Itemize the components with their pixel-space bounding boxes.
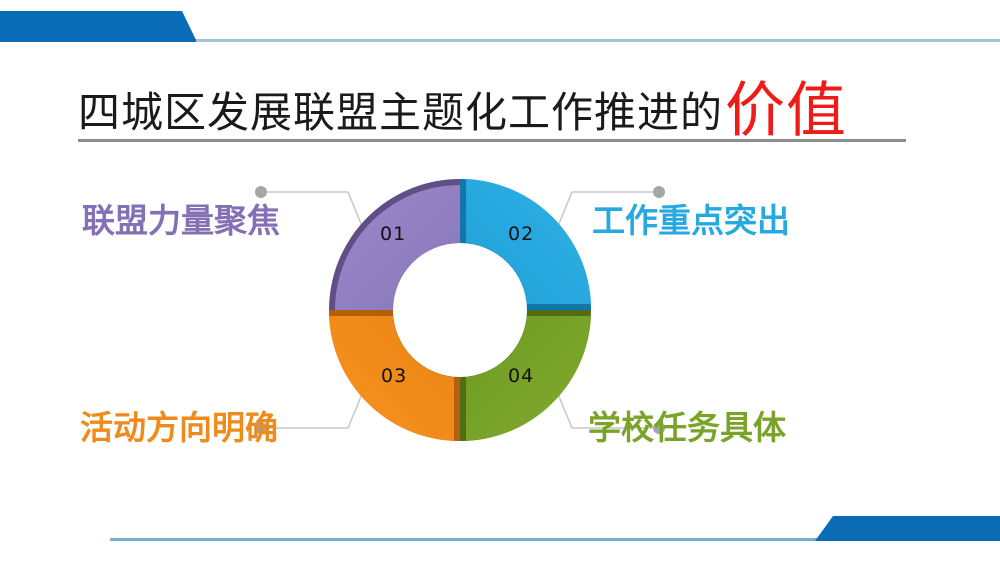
top-accent-line (0, 39, 1000, 42)
title-underline (78, 139, 906, 142)
top-blue-banner (0, 11, 196, 40)
page-title-accent: 价值 (725, 81, 847, 141)
top-decoration (0, 0, 1000, 46)
segment-label-04: 学校任务具体 (588, 411, 786, 444)
segment-number-01: 01 (380, 223, 406, 245)
segment-label-03: 活动方向明确 (80, 411, 278, 444)
connector-dot-02 (653, 186, 665, 198)
segment-label-02: 工作重点突出 (592, 204, 790, 237)
segment-number-03: 03 (381, 365, 407, 387)
bottom-blue-banner (815, 516, 1000, 541)
page-title-main: 四城区发展联盟主题化工作推进的 (78, 92, 723, 134)
segmented-donut-diagram: 01 02 03 04 (325, 175, 595, 445)
segment-number-02: 02 (508, 223, 534, 245)
segment-label-01: 联盟力量聚焦 (82, 204, 280, 237)
slide-canvas: 四城区发展联盟主题化工作推进的 价值 (0, 0, 1000, 562)
page-title: 四城区发展联盟主题化工作推进的 价值 (78, 56, 928, 134)
segment-number-04: 04 (508, 365, 534, 387)
connector-dot-01 (255, 186, 267, 198)
